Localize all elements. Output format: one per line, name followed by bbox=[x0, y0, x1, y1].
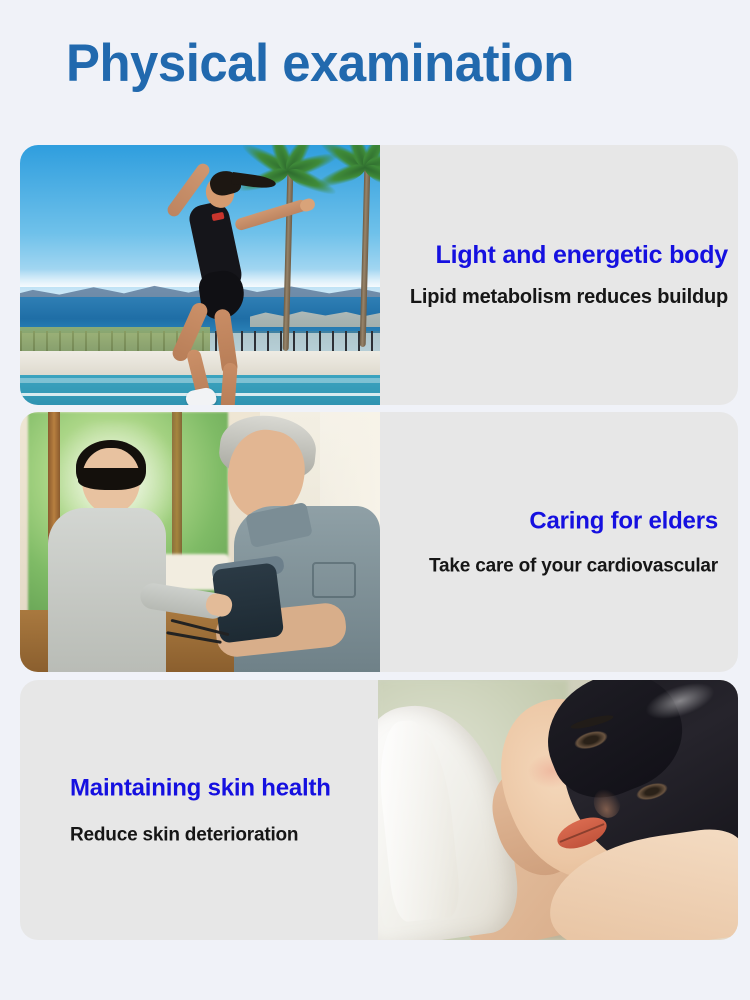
boy-measuring-elderly-man-blood-pressure-image bbox=[20, 412, 380, 672]
card-text-panel: Maintaining skin health Reduce skin dete… bbox=[20, 680, 378, 940]
boy-fringe bbox=[78, 468, 142, 490]
card-text-block: Caring for elders Take care of your card… bbox=[380, 507, 738, 576]
card-subtext: Take care of your cardiovascular bbox=[394, 555, 718, 577]
feature-card-caring-for-elders[interactable]: Caring for elders Take care of your card… bbox=[20, 412, 738, 672]
card-text-block: Light and energetic body Lipid metabolis… bbox=[380, 241, 738, 309]
young-woman-portrait-in-white-robe-image bbox=[378, 680, 738, 940]
page-title: Physical examination bbox=[66, 28, 680, 100]
card-text-block: Maintaining skin health Reduce skin dete… bbox=[20, 774, 378, 845]
card-heading: Light and energetic body bbox=[394, 241, 728, 270]
card-heading: Caring for elders bbox=[394, 507, 718, 535]
feature-card-maintaining-skin-health[interactable]: Maintaining skin health Reduce skin dete… bbox=[20, 680, 738, 940]
dancer-leaping-on-outdoor-court-image bbox=[20, 145, 380, 405]
card-text-panel: Light and energetic body Lipid metabolis… bbox=[380, 145, 738, 405]
card-text-panel: Caring for elders Take care of your card… bbox=[380, 412, 738, 672]
card-subtext: Reduce skin deterioration bbox=[70, 824, 364, 846]
shirt-pocket bbox=[312, 562, 356, 598]
feature-card-light-and-energetic-body[interactable]: Light and energetic body Lipid metabolis… bbox=[20, 145, 738, 405]
dancer-figure bbox=[148, 151, 318, 405]
card-subtext: Lipid metabolism reduces buildup bbox=[394, 286, 728, 309]
card-heading: Maintaining skin health bbox=[70, 774, 364, 802]
poster-page: Physical examination bbox=[0, 0, 750, 1000]
